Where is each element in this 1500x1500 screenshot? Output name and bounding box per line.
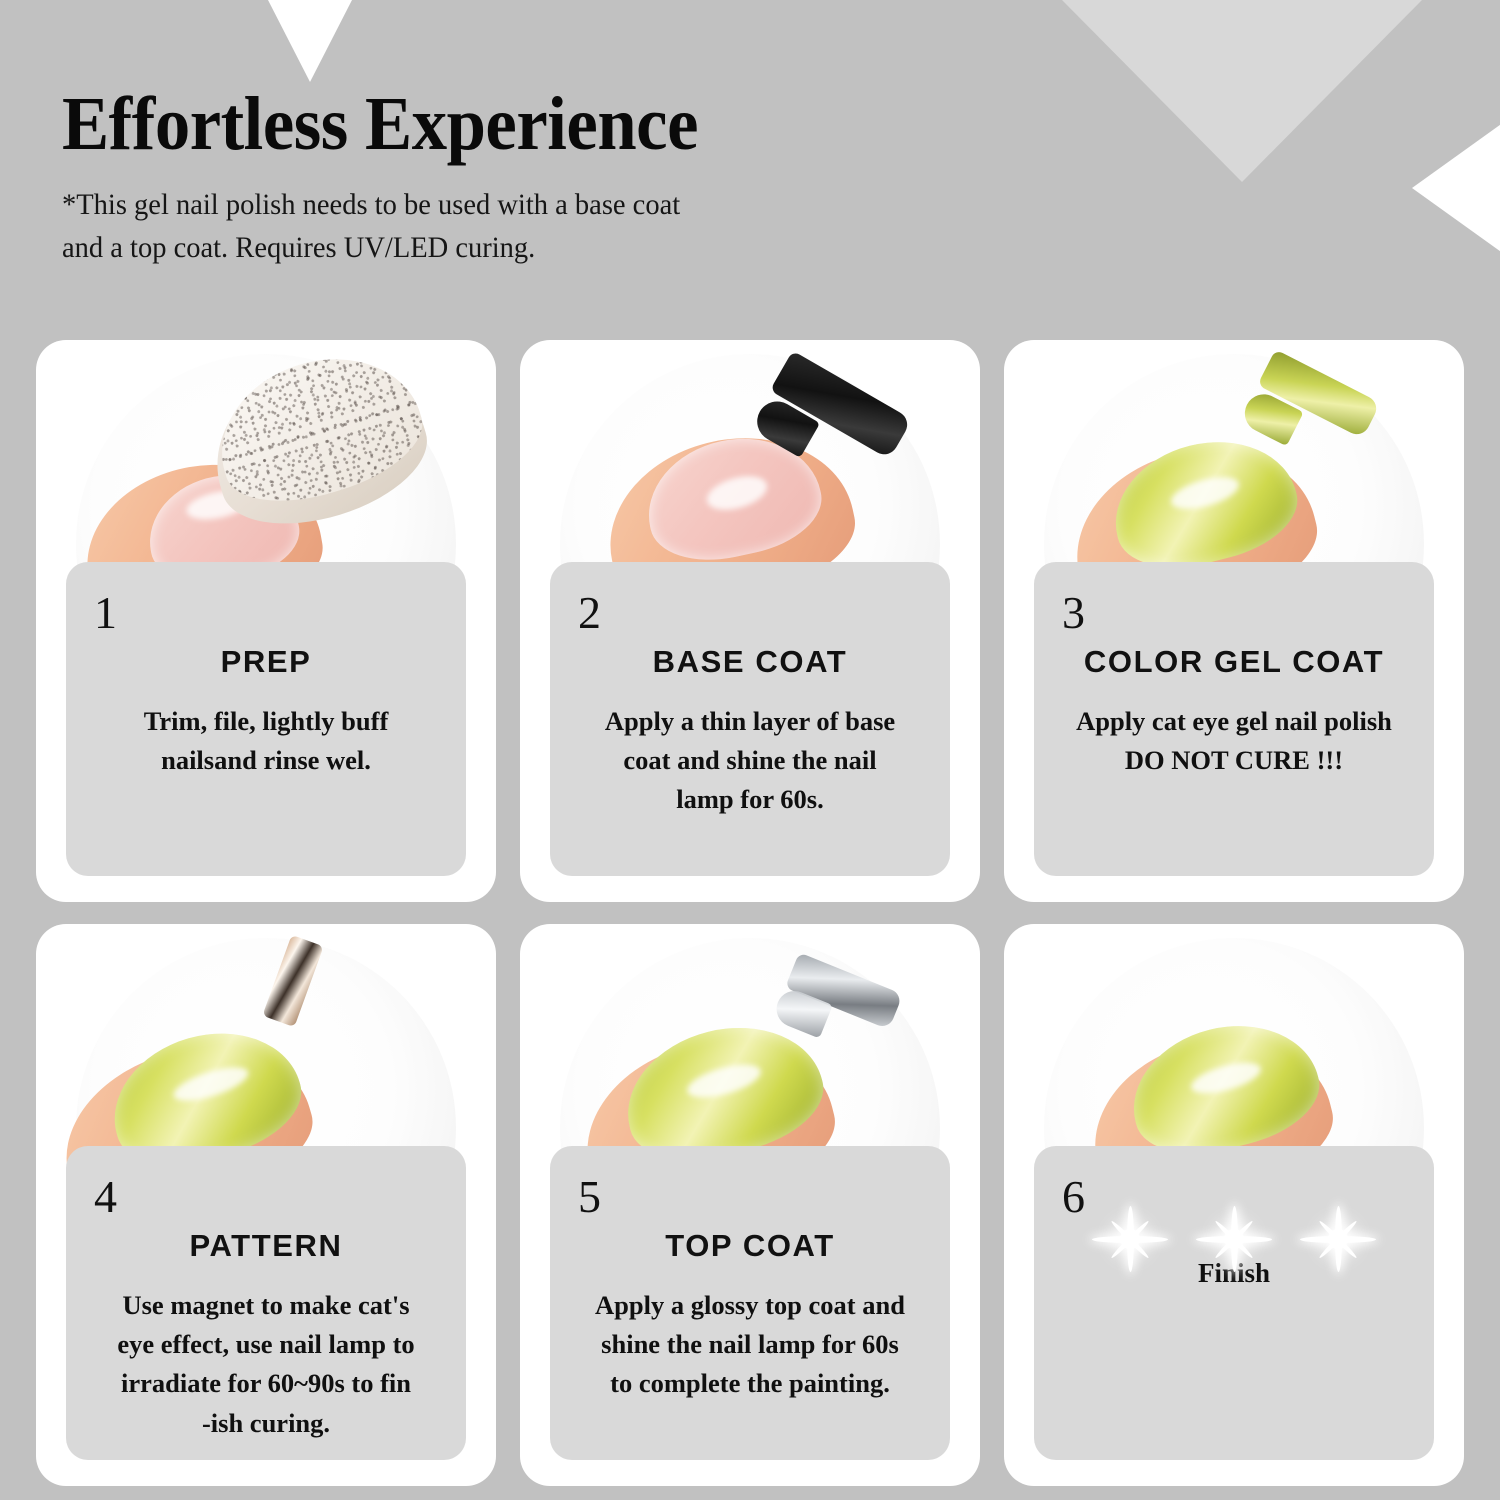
step-title: PATTERN xyxy=(66,1146,466,1264)
header: Effortless Experience *This gel nail pol… xyxy=(62,86,746,269)
magnet-bar-top-icon xyxy=(262,935,323,1027)
page-subtitle: *This gel nail polish needs to be used w… xyxy=(62,184,712,269)
sparkle-icon xyxy=(1195,1200,1273,1278)
step-card-2[interactable]: 2 BASE COAT Apply a thin layer of base c… xyxy=(520,340,980,902)
step-info-panel-2: 2 BASE COAT Apply a thin layer of base c… xyxy=(550,562,950,876)
steps-grid: 1 PREP Trim, file, lightly buff nailsand… xyxy=(36,340,1464,1486)
light-gray-triangle-top-right-icon xyxy=(1062,0,1422,182)
step-number: 3 xyxy=(1062,590,1085,636)
step-title: BASE COAT xyxy=(550,562,950,680)
step-title: TOP COAT xyxy=(550,1146,950,1264)
white-diamond-right-icon xyxy=(1412,122,1500,254)
step-description: Apply a thin layer of base coat and shin… xyxy=(576,702,924,820)
sparkle-icon xyxy=(1091,1200,1169,1278)
step-description: Trim, file, lightly buff nailsand rinse … xyxy=(92,702,440,780)
sparkle-row xyxy=(1034,1200,1434,1278)
step-number: 2 xyxy=(578,590,601,636)
step-number: 1 xyxy=(94,590,117,636)
step-card-5[interactable]: 5 TOP COAT Apply a glossy top coat and s… xyxy=(520,924,980,1486)
step-info-panel-6: 6 Finish xyxy=(1034,1146,1434,1460)
step-info-panel-4: 4 PATTERN Use magnet to make cat's eye e… xyxy=(66,1146,466,1460)
step-card-3[interactable]: 3 COLOR GEL COAT Apply cat eye gel nail … xyxy=(1004,340,1464,902)
step-card-4[interactable]: 4 PATTERN Use magnet to make cat's eye e… xyxy=(36,924,496,1486)
step-description: Use magnet to make cat's eye effect, use… xyxy=(92,1286,440,1443)
step-description: Apply cat eye gel nail polish DO NOT CUR… xyxy=(1060,702,1408,780)
step-description: Apply a glossy top coat and shine the na… xyxy=(576,1286,924,1404)
step-title: COLOR GEL COAT xyxy=(1034,562,1434,680)
step-info-panel-5: 5 TOP COAT Apply a glossy top coat and s… xyxy=(550,1146,950,1460)
step-info-panel-1: 1 PREP Trim, file, lightly buff nailsand… xyxy=(66,562,466,876)
step-number: 4 xyxy=(94,1174,117,1220)
step-info-panel-3: 3 COLOR GEL COAT Apply cat eye gel nail … xyxy=(1034,562,1434,876)
sparkle-icon xyxy=(1299,1200,1377,1278)
step-card-1[interactable]: 1 PREP Trim, file, lightly buff nailsand… xyxy=(36,340,496,902)
step-card-6[interactable]: 6 Finish xyxy=(1004,924,1464,1486)
step-number: 5 xyxy=(578,1174,601,1220)
step-title: PREP xyxy=(66,562,466,680)
white-triangle-top-icon xyxy=(268,0,352,82)
page-title: Effortless Experience xyxy=(62,86,698,162)
